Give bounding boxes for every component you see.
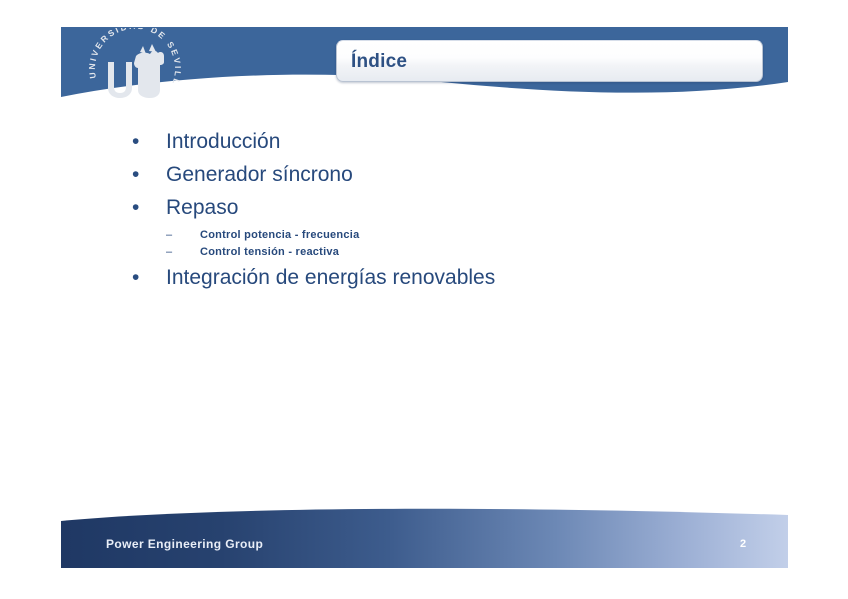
seal-ring-text: UNIVERSIDAD DE SEVILLA — [86, 28, 183, 88]
sub-list-item-label: Control potencia - frecuencia — [200, 229, 359, 242]
list-item-label: Integración de energías renovables — [166, 266, 495, 289]
bullet-dot-icon: • — [132, 197, 166, 218]
list-item-label: Introducción — [166, 130, 280, 153]
page-title: Índice — [351, 52, 407, 71]
sub-list-item-label: Control tensión - reactiva — [200, 246, 339, 259]
bullet-dash-icon: – — [166, 247, 200, 258]
list-item-label: Generador síncrono — [166, 163, 353, 186]
list-item: • Introducción — [132, 130, 752, 153]
bullet-list: • Introducción • Generador síncrono • Re… — [132, 130, 752, 299]
seal-monogram — [108, 44, 164, 98]
list-item: • Integración de energías renovables — [132, 266, 752, 289]
footer-label: Power Engineering Group — [106, 538, 263, 550]
list-item-label: Repaso — [166, 196, 238, 219]
bullet-dot-icon: • — [132, 164, 166, 185]
bullet-dot-icon: • — [132, 131, 166, 152]
sub-list-item: – Control tensión - reactiva — [132, 246, 752, 259]
list-item: • Generador síncrono — [132, 163, 752, 186]
slide-number: 2 — [733, 539, 753, 550]
list-item: • Repaso — [132, 196, 752, 219]
sub-bullet-list: – Control potencia - frecuencia – Contro… — [132, 229, 752, 259]
bullet-dot-icon: • — [132, 267, 166, 288]
sub-list-item: – Control potencia - frecuencia — [132, 229, 752, 242]
bullet-dash-icon: – — [166, 230, 200, 241]
slide-canvas: UNIVERSIDAD DE SEVILLA Índice • Introduc… — [0, 0, 848, 599]
universidad-de-sevilla-logo: UNIVERSIDAD DE SEVILLA — [86, 28, 184, 100]
slide-title-plate: Índice — [336, 40, 763, 82]
svg-text:UNIVERSIDAD DE SEVILLA: UNIVERSIDAD DE SEVILLA — [86, 28, 183, 88]
